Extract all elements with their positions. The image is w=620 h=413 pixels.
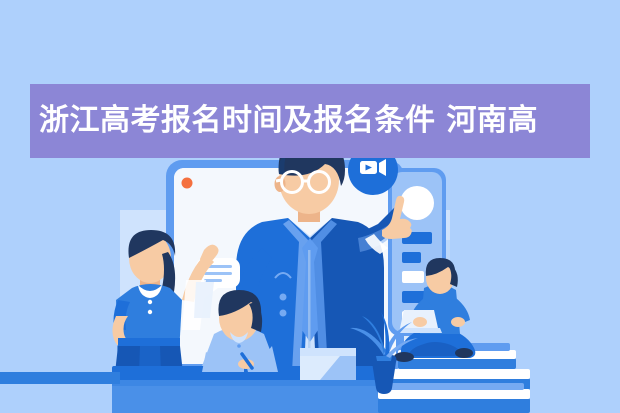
title-banner: 浙江高考报名时间及报名条件 河南高 xyxy=(30,84,590,158)
hero-illustration xyxy=(0,0,620,413)
screenshot-root: 浙江高考报名时间及报名条件 河南高 xyxy=(0,0,620,413)
page-title: 浙江高考报名时间及报名条件 河南高 xyxy=(30,106,538,136)
